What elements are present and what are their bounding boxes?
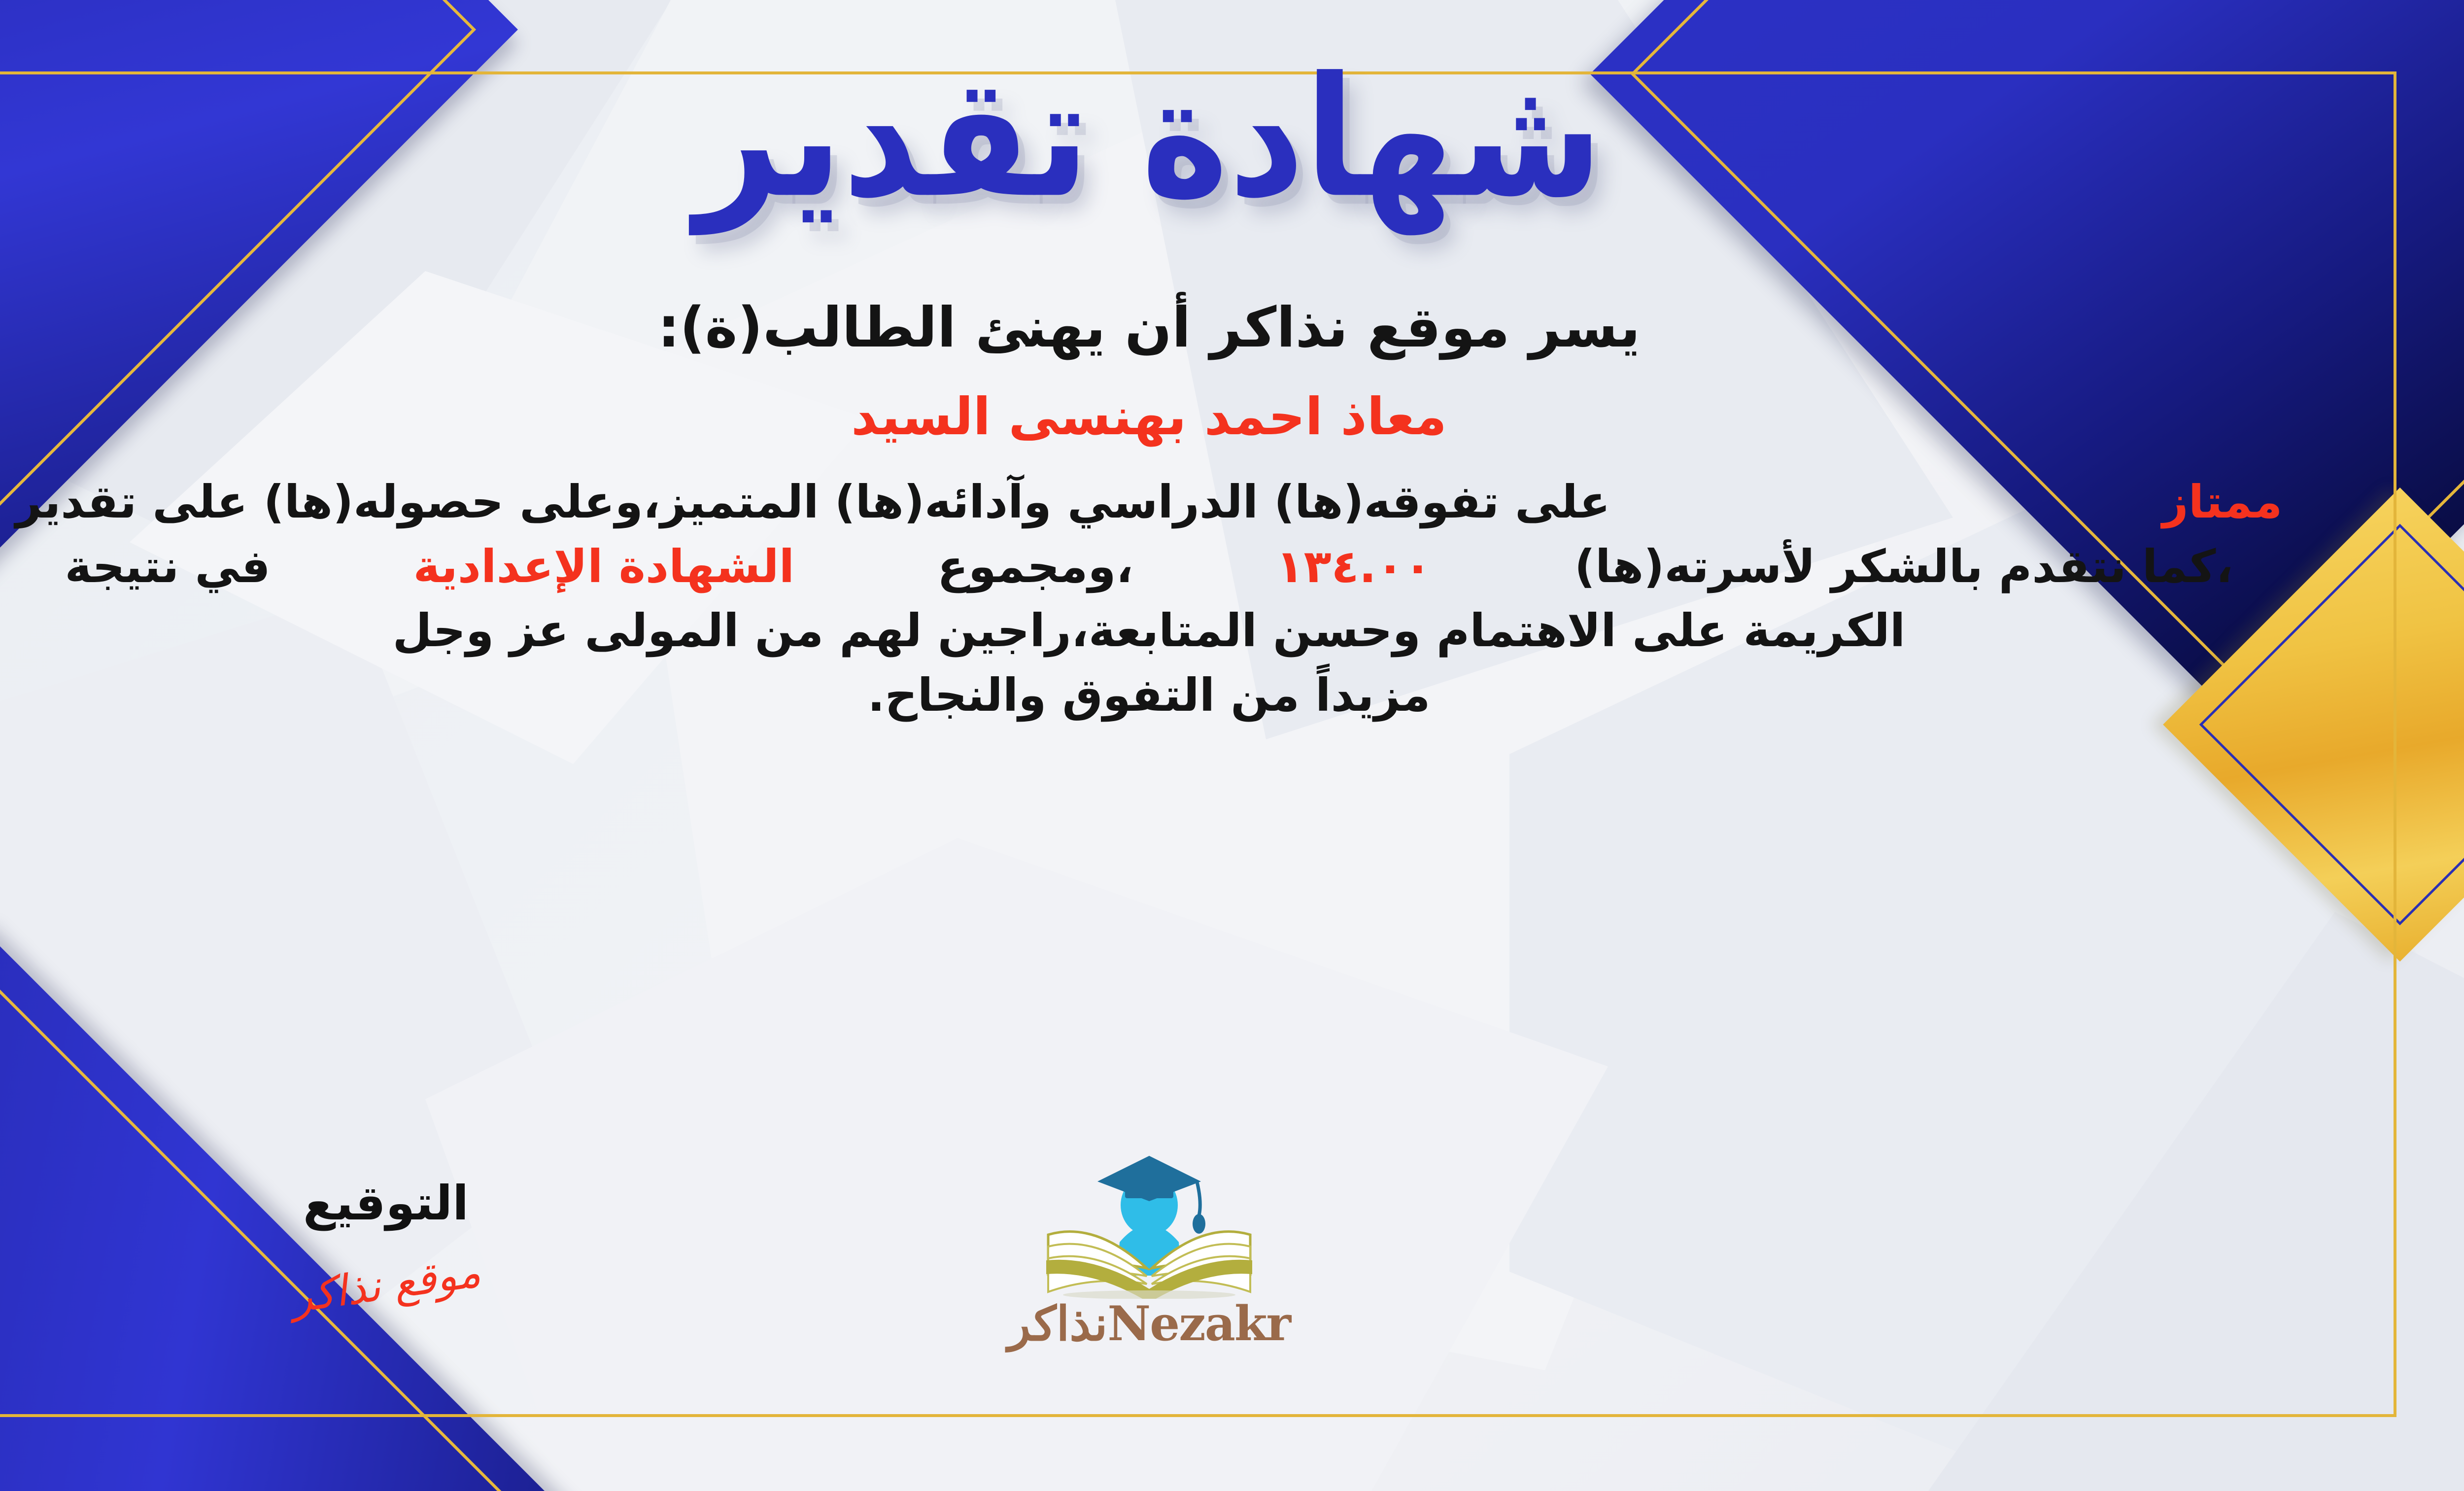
body-line-1: ممتاز على تفوقه(ها) الدراسي وآدائه(ها) ا… <box>16 470 2283 535</box>
body-paragraph: ممتاز على تفوقه(ها) الدراسي وآدائه(ها) ا… <box>16 470 2283 728</box>
signature-block: التوقيع موقع نذاكر <box>208 1176 563 1310</box>
site-logo: Nezakrنذاكر <box>992 1136 1307 1352</box>
body-line-2-start: في نتيجة <box>65 535 271 599</box>
logo-wordmark: Nezakrنذاكر <box>992 1296 1307 1352</box>
body-line-1-text: على تفوقه(ها) الدراسي وآدائه(ها) المتميز… <box>16 470 1610 535</box>
body-line-4: مزيداً من التفوق والنجاح. <box>16 663 2283 728</box>
total-score-value: ١٣٤.٠٠ <box>1276 535 1432 599</box>
body-line-3: الكريمة على الاهتمام وحسن المتابعة،راجين… <box>16 599 2283 663</box>
body-line-2: ،كما نتقدم بالشكر لأسرته(ها) ١٣٤.٠٠ ،ومج… <box>65 535 2233 599</box>
certificate-page: شهادة تقدير يسر موقع نذاكر أن يهنئ الطال… <box>0 0 2464 1491</box>
graduate-book-icon <box>1033 1136 1265 1299</box>
intro-line: يسر موقع نذاكر أن يهنئ الطالب(ة): <box>658 296 1641 360</box>
body-line-2-mid: ،ومجموع <box>937 535 1133 599</box>
student-name: معاذ احمد بهنسى السيد <box>851 386 1447 447</box>
signature-label: التوقيع <box>208 1176 563 1231</box>
certificate-footer: التوقيع موقع نذاكر <box>0 1116 2464 1432</box>
body-line-2-end: ،كما نتقدم بالشكر لأسرته(ها) <box>1574 535 2233 599</box>
signature-mark: موقع نذاكر <box>288 1248 483 1323</box>
certificate-title: شهادة تقدير <box>695 55 1603 221</box>
exam-name-value: الشهادة الإعدادية <box>413 535 794 599</box>
grade-value: ممتاز <box>2162 470 2283 535</box>
